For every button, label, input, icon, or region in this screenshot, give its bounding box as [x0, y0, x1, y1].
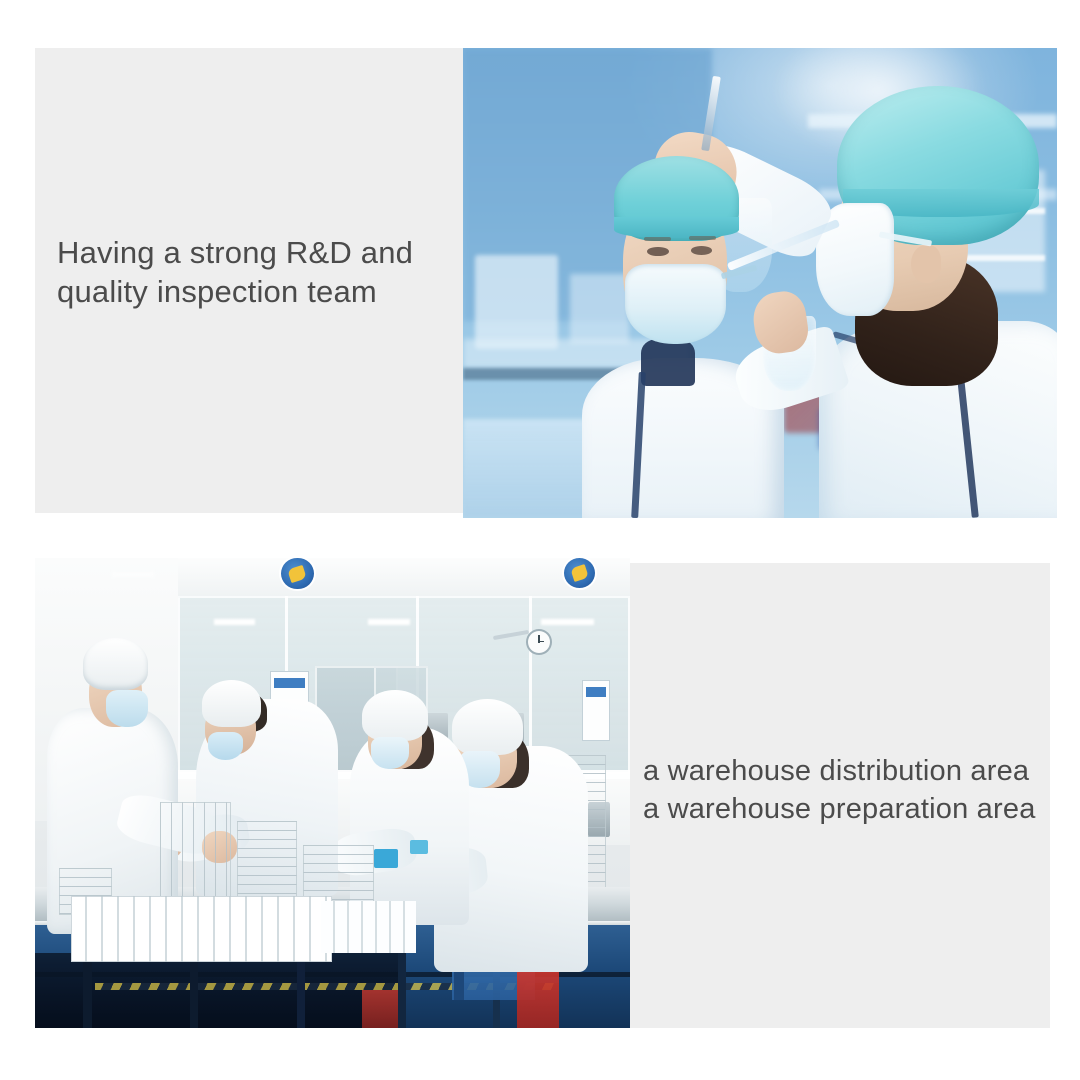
worker-3-face-mask: [371, 737, 409, 770]
blue-label-tag: [374, 849, 398, 868]
warehouse-scene: [35, 558, 630, 1028]
lab-instrument-center: [570, 274, 629, 345]
ceiling-light: [112, 572, 154, 577]
rd-quality-caption: Having a strong R&D and quality inspecti…: [57, 233, 457, 311]
technician-left-collar: [641, 339, 694, 386]
worker-3-hairnet: [362, 690, 427, 742]
technician-right-ear: [911, 245, 941, 283]
technician-left-face-mask: [625, 264, 726, 344]
worker-1-face-mask: [106, 690, 148, 728]
lab-instrument-left: [475, 255, 558, 349]
blue-label-tag: [410, 840, 428, 854]
ceiling-light: [368, 619, 410, 625]
page-root: Having a strong R&D and quality inspecti…: [0, 0, 1080, 1080]
red-bin: [517, 962, 559, 1028]
section-warehouse: a warehouse distribution area a warehous…: [35, 558, 1050, 1028]
technician-left-hairnet-band: [614, 217, 739, 238]
warehouse-caption: a warehouse distribution area a warehous…: [643, 753, 1063, 828]
worker-2-face-mask: [208, 732, 244, 760]
carton-row-front: [71, 896, 333, 962]
worker-4-hairnet: [452, 699, 523, 755]
lab-scene: [463, 48, 1057, 518]
carton-row-center: [321, 901, 416, 953]
technician-left-brow: [689, 236, 716, 240]
lab-quality-inspection-photo: [463, 48, 1057, 518]
box-stack: [160, 802, 231, 905]
worker-1-hairnet: [83, 638, 148, 690]
wall-notice-board: [582, 680, 609, 741]
red-bin: [362, 990, 398, 1028]
technician-left-brow: [644, 237, 671, 241]
ceiling-light: [214, 619, 256, 625]
warehouse-packing-photo: [35, 558, 630, 1028]
box-stack: [237, 821, 297, 906]
ceiling-light: [541, 619, 595, 625]
section-rd-quality: Having a strong R&D and quality inspecti…: [35, 48, 1057, 518]
technician-left-eye: [647, 247, 668, 256]
wall-clock-icon: [526, 629, 552, 655]
worker-2-hairnet: [202, 680, 262, 727]
